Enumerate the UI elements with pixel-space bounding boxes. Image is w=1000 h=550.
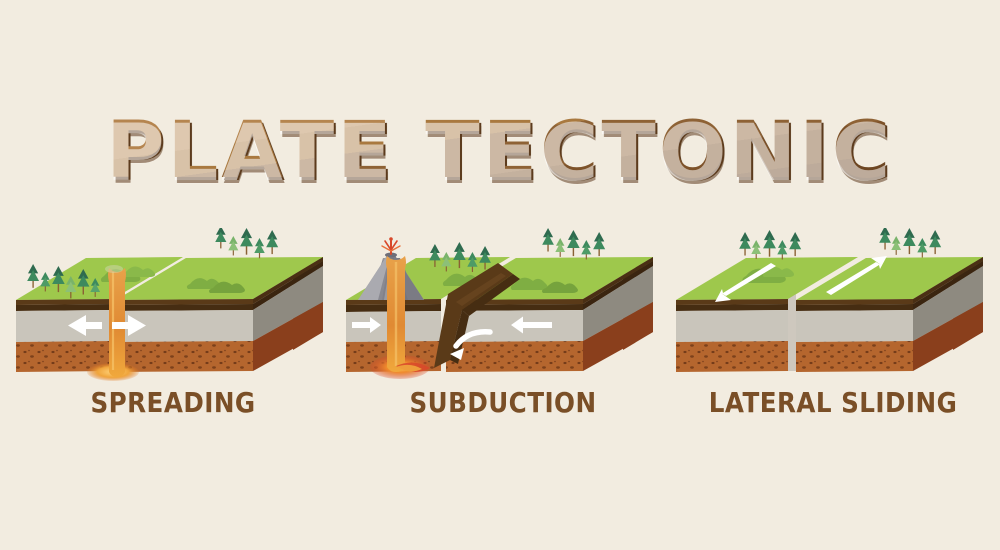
trees-right-3	[879, 228, 941, 257]
lateral-sliding-figure	[668, 228, 998, 388]
page-title: PLATE TECTONIC	[0, 112, 1000, 190]
diagram-panels: SPREADING	[0, 228, 1000, 428]
panel-subduction: SUBDUCTION	[338, 228, 668, 428]
spreading-figure	[8, 228, 338, 388]
panel-label-subduction: SUBDUCTION	[358, 386, 648, 419]
volcano-eruption-icon	[382, 237, 400, 254]
plate-tectonic-infographic: PLATE TECTONIC	[0, 0, 1000, 550]
subduction-figure	[338, 228, 668, 388]
trees-right-1	[215, 228, 278, 258]
panel-label-spreading: SPREADING	[28, 386, 318, 419]
trees-right-2	[542, 228, 605, 259]
panel-label-lateral-sliding: LATERAL SLIDING	[688, 386, 978, 419]
page-title-text: PLATE TECTONIC	[106, 112, 893, 190]
panel-lateral-sliding: LATERAL SLIDING	[668, 228, 998, 428]
panel-spreading: SPREADING	[8, 228, 338, 428]
trees-left-3	[739, 230, 801, 259]
